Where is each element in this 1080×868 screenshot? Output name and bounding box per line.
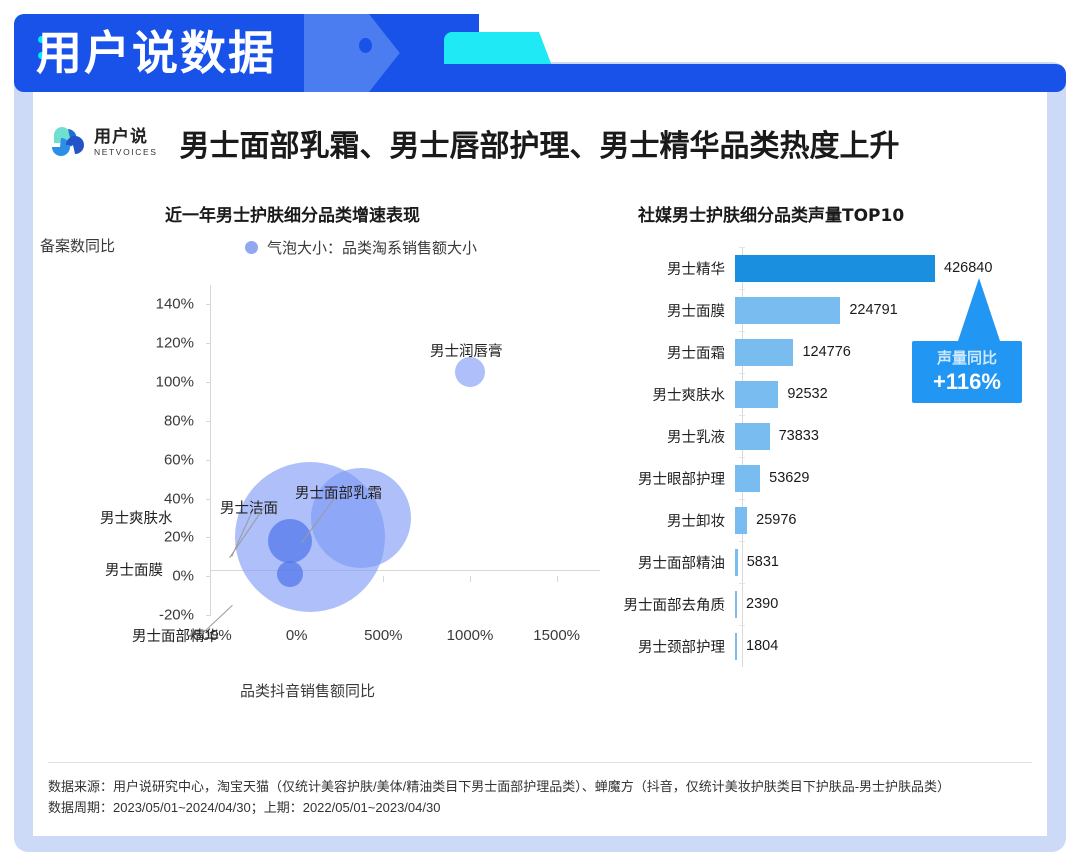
footer-notes: 数据来源：用户说研究中心，淘宝天猫（仅统计美容护肤/美体/精油类目下男士面部护理… [48,776,1043,818]
y-axis-tick [206,304,211,305]
x-axis-tick-label: 1500% [533,627,580,644]
bar-row[interactable]: 男士眼部护理53629 [600,457,809,499]
bar-row[interactable]: 男士精华426840 [600,247,992,289]
bar-row[interactable]: 男士乳液73833 [600,415,819,457]
bubble-point-label: 男士爽肤水 [100,507,173,528]
bar-category-label: 男士面霜 [600,342,735,363]
bar-fill [735,507,747,534]
bar-value-label: 124776 [802,344,850,360]
bar-track: 73833 [735,415,819,457]
y-axis-tick [206,382,211,383]
bar-track: 224791 [735,289,898,331]
y-axis-tick-label: 140% [156,296,194,313]
bar-row[interactable]: 男士面部去角质2390 [600,583,778,625]
bar-chart-title: 社媒男士护肤细分品类声量TOP10 [638,201,904,226]
x-axis-tick-label: 500% [364,627,402,644]
bar-value-label: 224791 [849,302,897,318]
bar-fill [735,591,737,618]
bubble-point [268,519,312,563]
bar-value-label: 2390 [746,596,778,612]
bar-category-label: 男士颈部护理 [600,636,735,657]
y-axis-tick [206,343,211,344]
bar-fill [735,549,738,576]
bar-track: 5831 [735,541,779,583]
y-axis-line [210,285,211,615]
ribbon-eye-dot-icon [359,38,372,53]
logo-text-en: NETVOICES [94,147,158,158]
bar-row[interactable]: 男士颈部护理1804 [600,625,778,667]
bar-track: 53629 [735,457,809,499]
y-axis-tick-label: 80% [164,412,194,429]
bubble-chart-title: 近一年男士护肤细分品类增速表现 [165,201,420,226]
bar-fill [735,381,778,408]
header-ribbon: 用户说数据 [14,14,1066,92]
x-axis-tick [557,576,558,582]
bar-category-label: 男士卸妆 [600,510,735,531]
y-axis-tick-label: 0% [172,568,194,585]
bar-track: 1804 [735,625,778,667]
y-axis-tick [206,460,211,461]
bubble-plot-area: 140%120%100%80%60%40%20%0%-20%-500%0%500… [210,285,600,615]
y-axis-tick [206,421,211,422]
callout-arrow-icon [957,278,1001,344]
footer-divider [48,762,1032,763]
bar-fill [735,297,840,324]
bar-track: 124776 [735,331,851,373]
bubble-point-label: 男士面部乳霜 [295,482,382,503]
bar-value-label: 5831 [747,554,779,570]
bar-fill [735,423,770,450]
bar-category-label: 男士面膜 [600,300,735,321]
x-axis-tick-label: 1000% [447,627,494,644]
bubble-legend: 气泡大小：品类淘系销售额大小 [245,237,477,258]
x-axis-tick [383,576,384,582]
bubble-x-axis-title: 品类抖音销售额同比 [240,680,375,701]
ribbon-blue-bar [444,64,1066,92]
bar-fill [735,255,935,282]
bubble-point [455,357,485,387]
bar-fill [735,465,760,492]
bar-row[interactable]: 男士卸妆25976 [600,499,796,541]
bar-category-label: 男士精华 [600,258,735,279]
bar-category-label: 男士眼部护理 [600,468,735,489]
bar-track: 92532 [735,373,828,415]
bar-chart-panel: 社媒男士护肤细分品类声量TOP10 男士精华426840男士面膜224791男士… [600,195,1050,735]
bar-category-label: 男士面部精油 [600,552,735,573]
page-title: 男士面部乳霜、男士唇部护理、男士精华品类热度上升 [180,121,900,165]
bubble-chart-panel: 近一年男士护肤细分品类增速表现 备案数同比 气泡大小：品类淘系销售额大小 140… [40,195,610,735]
netvoices-logo-icon [48,123,88,163]
bubble-point-label: 男士面膜 [105,559,163,580]
callout-label: 声量同比 [937,349,997,369]
infographic-page: 用户说数据 用户说 NETVOICES 男士面部乳霜、男士唇部护理、男士精华品类… [0,0,1080,868]
bar-track: 25976 [735,499,796,541]
legend-label: 气泡大小：品类淘系销售额大小 [267,237,477,258]
data-source-note: 数据来源：用户说研究中心，淘宝天猫（仅统计美容护肤/美体/精油类目下男士面部护理… [48,776,1043,797]
y-axis-tick-label: -20% [159,607,194,624]
y-axis-tick [206,615,211,616]
bar-row[interactable]: 男士面霜124776 [600,331,851,373]
y-axis-tick [206,499,211,500]
x-axis-tick [470,576,471,582]
y-axis-tick-label: 20% [164,529,194,546]
bar-track: 426840 [735,247,992,289]
bar-value-label: 73833 [779,428,819,444]
bar-track: 2390 [735,583,778,625]
bar-value-label: 1804 [746,638,778,654]
data-period-note: 数据周期：2023/05/01~2024/04/30；上期：2022/05/01… [48,797,1043,818]
bar-value-label: 426840 [944,260,992,276]
bar-value-label: 25976 [756,512,796,528]
callout-value: +116% [933,369,1001,395]
bar-category-label: 男士乳液 [600,426,735,447]
bar-row[interactable]: 男士面膜224791 [600,289,898,331]
ribbon-cyan-tab [444,32,552,66]
y-axis-tick-label: 100% [156,374,194,391]
legend-bubble-icon [245,241,258,254]
y-axis-tick-label: 120% [156,335,194,352]
bar-fill [735,633,737,660]
logo-wordmark: 用户说 NETVOICES [94,128,158,158]
bar-value-label: 92532 [787,386,827,402]
x-axis-tick-label: 0% [286,627,308,644]
growth-callout: 声量同比 +116% [912,341,1022,403]
bubble-point [277,561,303,587]
bar-row[interactable]: 男士面部精油5831 [600,541,779,583]
y-axis-tick [206,537,211,538]
brand-row: 用户说 NETVOICES 男士面部乳霜、男士唇部护理、男士精华品类热度上升 [48,112,900,174]
ribbon-title: 用户说数据 [36,20,276,86]
bar-fill [735,339,793,366]
x-axis-tick [210,576,211,582]
bar-row[interactable]: 男士爽肤水92532 [600,373,828,415]
bubble-point-label: 男士润唇膏 [430,340,503,361]
bubble-y-axis-title: 备案数同比 [40,235,115,256]
bar-category-label: 男士爽肤水 [600,384,735,405]
bar-category-label: 男士面部去角质 [600,594,735,615]
y-axis-tick-label: 40% [164,490,194,507]
bar-value-label: 53629 [769,470,809,486]
y-axis-tick-label: 60% [164,451,194,468]
logo-text-cn: 用户说 [94,128,158,147]
